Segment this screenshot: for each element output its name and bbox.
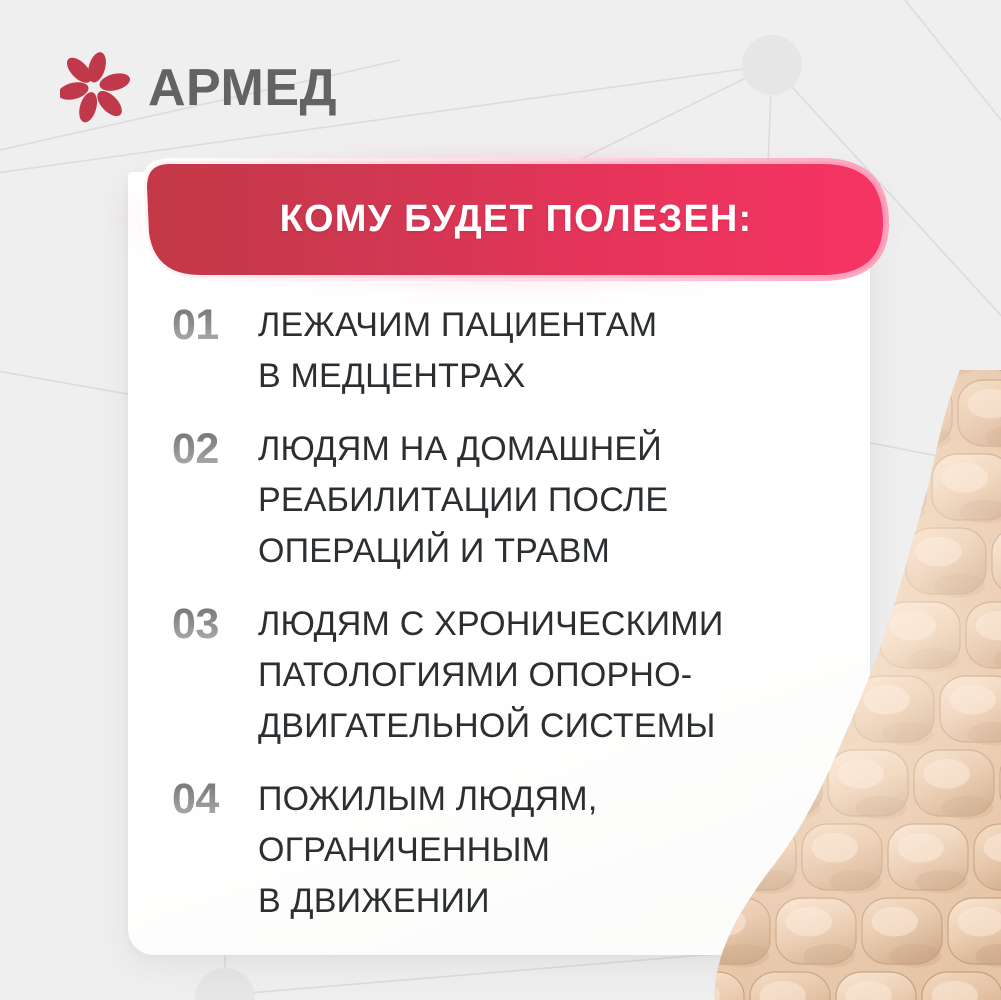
benefit-list: 01 ЛЕЖАЧИМ ПАЦИЕНТАМ В МЕДЦЕНТРАХ 02 ЛЮД… xyxy=(172,300,852,949)
list-item-text: ЛЕЖАЧИМ ПАЦИЕНТАМ В МЕДЦЕНТРАХ xyxy=(258,300,852,402)
list-item-text: ПОЖИЛЫМ ЛЮДЯМ, ОГРАНИЧЕННЫМ В ДВИЖЕНИИ xyxy=(258,774,852,927)
list-item-number: 04 xyxy=(172,774,258,825)
network-node-top xyxy=(742,35,802,95)
banner-title: КОМУ БУДЕТ ПОЛЕЗЕН: xyxy=(122,157,890,282)
poster-canvas: АРМЕД КОМУ БУДЕТ ПОЛЕЗЕН: xyxy=(0,0,1001,1000)
brand-logo: АРМЕД xyxy=(60,52,400,124)
list-item-text: ЛЮДЯМ С ХРОНИЧЕСКИМИ ПАТОЛОГИЯМИ ОПОРНО-… xyxy=(258,599,852,752)
six-petal-flower-icon xyxy=(60,51,134,125)
network-node-bottom xyxy=(195,968,255,1000)
list-item-number: 02 xyxy=(172,424,258,475)
section-banner: КОМУ БУДЕТ ПОЛЕЗЕН: xyxy=(122,157,890,282)
list-item: 03 ЛЮДЯМ С ХРОНИЧЕСКИМИ ПАТОЛОГИЯМИ ОПОР… xyxy=(172,599,852,752)
list-item: 01 ЛЕЖАЧИМ ПАЦИЕНТАМ В МЕДЦЕНТРАХ xyxy=(172,300,852,402)
list-item-number: 01 xyxy=(172,300,258,351)
list-item: 02 ЛЮДЯМ НА ДОМАШНЕЙ РЕАБИЛИТАЦИИ ПОСЛЕ … xyxy=(172,424,852,577)
brand-wordmark: АРМЕД xyxy=(148,62,337,114)
list-item-text: ЛЮДЯМ НА ДОМАШНЕЙ РЕАБИЛИТАЦИИ ПОСЛЕ ОПЕ… xyxy=(258,424,852,577)
list-item: 04 ПОЖИЛЫМ ЛЮДЯМ, ОГРАНИЧЕННЫМ В ДВИЖЕНИ… xyxy=(172,774,852,927)
list-item-number: 03 xyxy=(172,599,258,650)
